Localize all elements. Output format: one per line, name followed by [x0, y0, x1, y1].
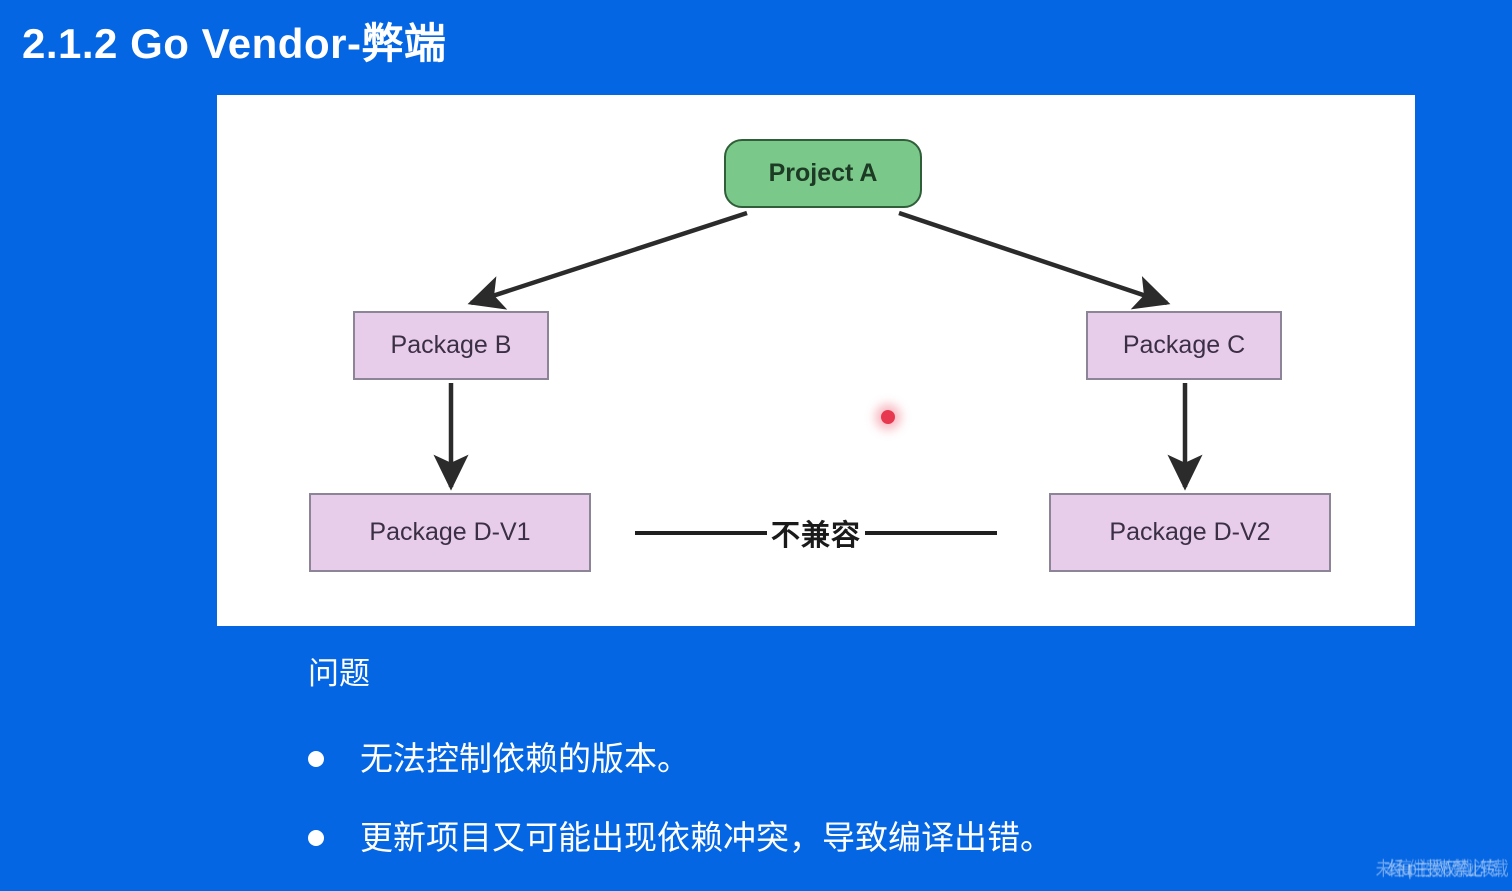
relation-line-left [635, 531, 767, 535]
list-item: 更新项目又可能出现依赖冲突，导致编译出错。 [308, 817, 1408, 858]
diagram-node-label: Package D-V2 [1109, 518, 1270, 547]
diagram-node-label: Package C [1123, 331, 1245, 360]
notes-section: 问题 无法控制依赖的版本。 更新项目又可能出现依赖冲突，导致编译出错。 [308, 655, 1408, 891]
laser-pointer-dot [881, 410, 895, 424]
edge-project-a-to-package-b [471, 213, 747, 303]
diagram-node-package-d-v2[interactable]: Package D-V2 [1049, 493, 1331, 572]
bullet-text: 更新项目又可能出现依赖冲突，导致编译出错。 [360, 817, 1053, 858]
list-item: 无法控制依赖的版本。 [308, 738, 1408, 779]
diagram-node-label: Package D-V1 [369, 518, 530, 547]
bullet-dot-icon [308, 751, 324, 767]
diagram-node-package-b[interactable]: Package B [353, 311, 549, 380]
watermark: 未经up主授权禁止转载 本稿件授权转载必究 [1376, 854, 1506, 881]
diagram-node-label: Package B [391, 331, 512, 360]
bullet-dot-icon [308, 830, 324, 846]
relation-label: 不兼容 [767, 512, 865, 554]
bullet-text: 无法控制依赖的版本。 [360, 738, 690, 779]
edge-project-a-to-package-c [899, 213, 1167, 303]
watermark-line-b: 本稿件授权转载必究 [1384, 854, 1495, 881]
page-title: 2.1.2 Go Vendor-弊端 [22, 10, 446, 71]
diagram-node-project-a[interactable]: Project A [724, 139, 922, 208]
diagram-panel: Project A Package B Package C Package D-… [217, 95, 1415, 626]
incompatible-relation: 不兼容 [635, 511, 997, 555]
notes-heading: 问题 [308, 655, 1408, 692]
diagram-node-package-d-v1[interactable]: Package D-V1 [309, 493, 591, 572]
diagram-node-package-c[interactable]: Package C [1086, 311, 1282, 380]
relation-line-right [865, 531, 997, 535]
diagram-node-label: Project A [769, 159, 878, 188]
